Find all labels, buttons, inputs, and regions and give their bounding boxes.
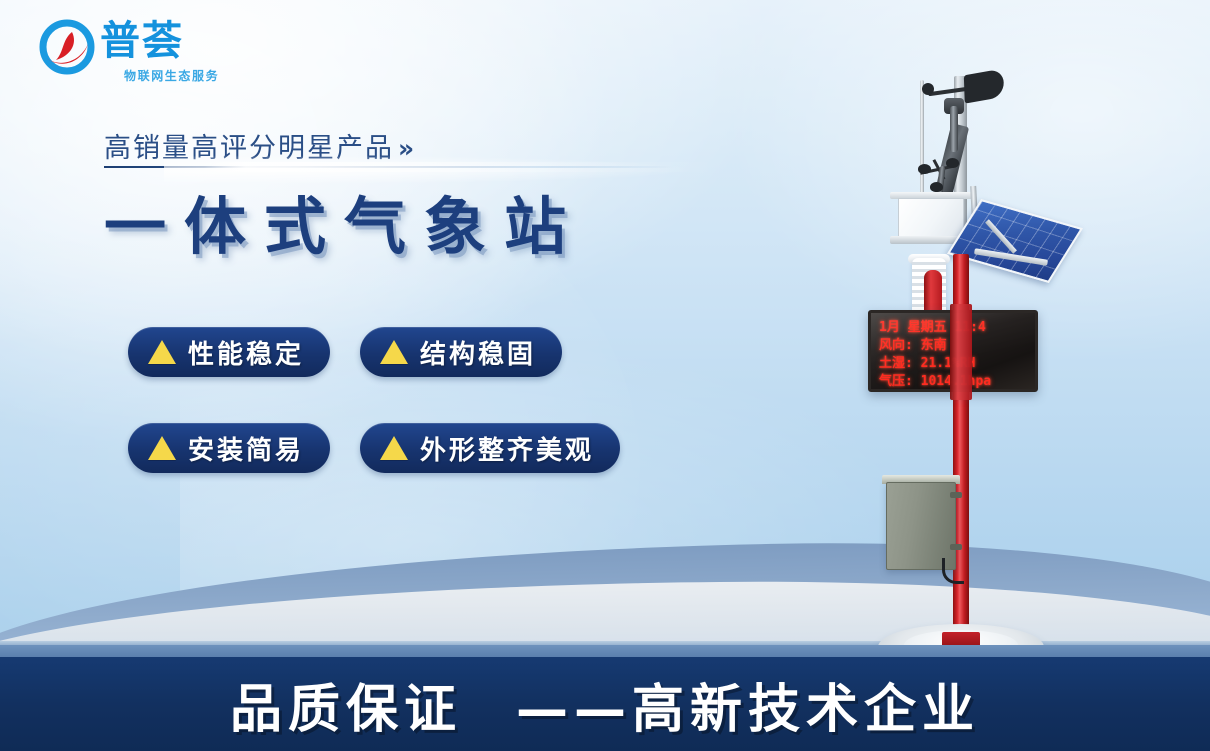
eyebrow-text: 高销量高评分明星产品»	[104, 126, 804, 165]
page-title: 一体式气象站	[104, 176, 584, 266]
eyebrow-block: 高销量高评分明星产品»	[104, 126, 804, 165]
cabinet-hinge	[950, 544, 962, 550]
anemometer-cups-icon	[946, 158, 959, 168]
triangle-up-icon	[148, 340, 176, 364]
promo-banner: 普荟 物联网生态服务 高销量高评分明星产品» 一体式气象站 性能稳定 结构稳固 …	[0, 0, 1210, 751]
feature-badge-label: 安装简易	[188, 430, 304, 467]
footer-band: 品质保证——高新技术企业	[0, 657, 1210, 751]
feature-badge-label: 性能稳定	[188, 334, 304, 371]
feature-badge-row: 安装简易 外形整齐美观	[128, 423, 788, 473]
feature-badge[interactable]: 安装简易	[128, 423, 330, 473]
feature-badge-label: 结构稳固	[420, 334, 536, 371]
anemometer-cups-icon	[918, 164, 931, 174]
brand-name: 普荟	[100, 18, 184, 64]
wind-vane-counterweight	[922, 83, 934, 95]
weather-station-product: 1月 星期五 11:4 风向: 东南 土湿: 21.1%RH 气压: 1014.…	[846, 58, 1106, 658]
feature-badge-row: 性能稳定 结构稳固	[128, 327, 788, 377]
sensor-panel	[898, 198, 964, 238]
footer-right-text: ——高新技术企业	[516, 680, 980, 740]
triangle-up-icon	[380, 340, 408, 364]
cabinet-hinge	[950, 492, 962, 498]
wind-vane-shaft	[950, 106, 958, 152]
footer-text: 品质保证——高新技术企业	[230, 667, 980, 742]
feature-badge[interactable]: 性能稳定	[128, 327, 330, 377]
feature-badge-label: 外形整齐美观	[420, 430, 594, 467]
feature-badge[interactable]: 结构稳固	[360, 327, 562, 377]
triangle-up-icon	[380, 436, 408, 460]
feature-badge[interactable]: 外形整齐美观	[360, 423, 620, 473]
wind-vane-icon	[964, 68, 1004, 103]
chevron-right-icon: »	[398, 134, 414, 163]
circle-swoosh-logo-icon	[36, 18, 98, 80]
footer-left-text: 品质保证	[230, 680, 462, 740]
triangle-up-icon	[148, 436, 176, 460]
cabinet-cable	[942, 558, 964, 584]
feature-badge-list: 性能稳定 结构稳固 安装简易 外形整齐美观	[128, 327, 788, 519]
eyebrow-underline	[104, 166, 674, 168]
eyebrow-label: 高销量高评分明星产品	[104, 133, 394, 164]
brand-tagline: 物联网生态服务	[124, 67, 219, 84]
led-board-pole-clip	[950, 304, 972, 400]
brand-logo[interactable]: 普荟 物联网生态服务	[36, 14, 256, 86]
footer-accent-strip	[0, 645, 1210, 657]
control-cabinet-icon	[886, 482, 956, 570]
anemometer-cups-icon	[930, 182, 943, 192]
